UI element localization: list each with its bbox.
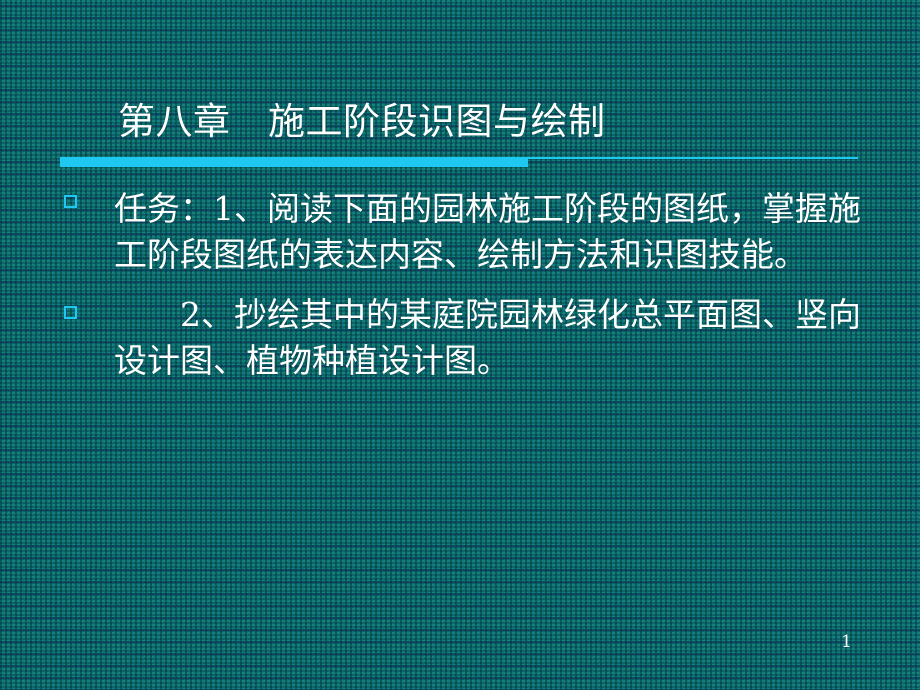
divider-thin-rule bbox=[528, 157, 858, 159]
hollow-square-bullet-icon bbox=[64, 195, 77, 208]
slide-title: 第八章 施工阶段识图与绘制 bbox=[118, 99, 606, 145]
hollow-square-bullet-icon bbox=[64, 306, 77, 319]
slide-body: 任务：1、阅读下面的园林施工阶段的图纸，掌握施工阶段图纸的表达内容、绘制方法和识… bbox=[60, 186, 870, 390]
presentation-slide: 第八章 施工阶段识图与绘制 任务：1、阅读下面的园林施工阶段的图纸，掌握施工阶段… bbox=[0, 0, 920, 690]
divider-thick-bar bbox=[60, 157, 528, 167]
bullet-item-text: 任务：1、阅读下面的园林施工阶段的图纸，掌握施工阶段图纸的表达内容、绘制方法和识… bbox=[114, 186, 870, 278]
title-divider bbox=[60, 155, 858, 167]
page-number: 1 bbox=[841, 633, 852, 651]
bullet-item: 2、抄绘其中的某庭院园林绿化总平面图、竖向设计图、植物种植设计图。 bbox=[60, 292, 870, 384]
bullet-item-text: 2、抄绘其中的某庭院园林绿化总平面图、竖向设计图、植物种植设计图。 bbox=[114, 292, 870, 384]
bullet-item: 任务：1、阅读下面的园林施工阶段的图纸，掌握施工阶段图纸的表达内容、绘制方法和识… bbox=[60, 186, 870, 278]
